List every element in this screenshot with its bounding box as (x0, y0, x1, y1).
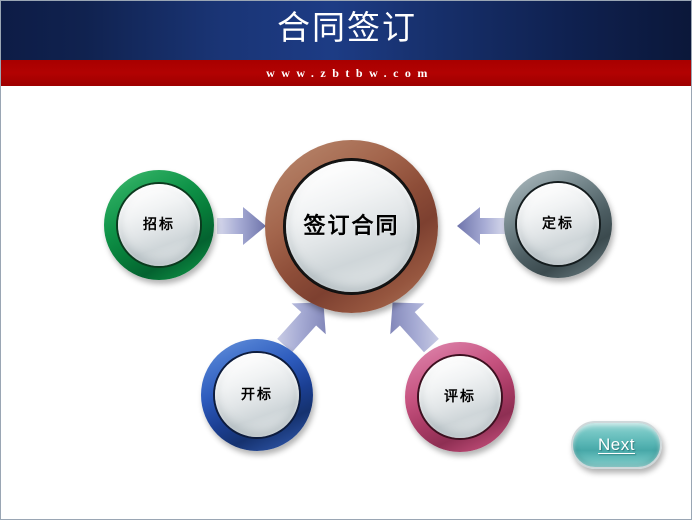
arrow-right-icon (217, 206, 267, 246)
node-face: 招标 (118, 184, 200, 266)
next-button-label: Next (598, 435, 635, 455)
diagram-node-bid-evaluation[interactable]: 评标 (405, 342, 515, 452)
diagram-node-sign-contract[interactable]: 签订合同 (265, 140, 438, 313)
node-face: 签订合同 (286, 161, 417, 292)
diagram-canvas: 签订合同 招标 定标 开标 (1, 88, 692, 520)
node-face: 开标 (215, 353, 299, 437)
node-label: 定标 (542, 217, 574, 231)
diagram-node-award-decision[interactable]: 定标 (504, 170, 612, 278)
node-label: 招标 (143, 218, 175, 232)
page-title: 合同签订 (1, 1, 692, 60)
node-label: 评标 (444, 390, 476, 404)
diagram-node-bid-opening[interactable]: 开标 (201, 339, 313, 451)
site-url: www.zbtbw.com (260, 66, 434, 81)
next-button[interactable]: Next (571, 421, 662, 469)
url-band: www.zbtbw.com (1, 60, 692, 86)
arrow-left-icon (456, 206, 506, 246)
diagram-node-tendering[interactable]: 招标 (104, 170, 214, 280)
node-face: 评标 (419, 356, 501, 438)
node-face: 定标 (517, 183, 599, 265)
node-label: 开标 (241, 388, 273, 402)
slide: 合同签订 www.zbtbw.com (0, 0, 692, 520)
node-label: 签订合同 (303, 216, 399, 238)
